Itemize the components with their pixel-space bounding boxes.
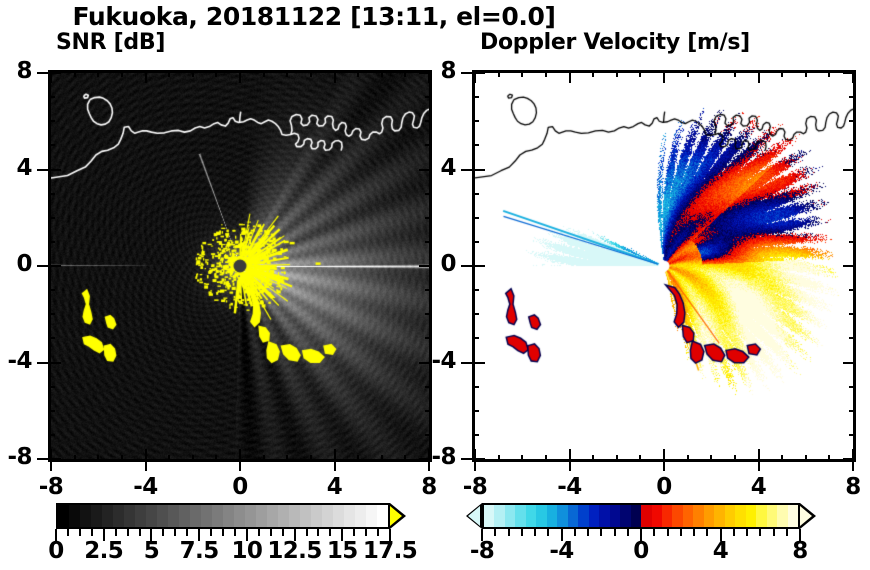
colorbar-swatch (256, 505, 267, 527)
colorbar-swatch (212, 505, 223, 527)
xtick-bottom (639, 455, 641, 462)
xtick-bottom (734, 455, 736, 462)
xtick-top (687, 70, 689, 77)
colorbar-tick (746, 529, 748, 536)
colorbar-swatch (80, 505, 91, 527)
ytick-outer (37, 169, 48, 171)
xtick-top (781, 70, 783, 77)
xtick-bottom (616, 455, 618, 462)
xtick-bottom (474, 449, 476, 462)
doppler-plot-area[interactable] (472, 70, 856, 462)
ytick-outer (461, 169, 472, 171)
xtick-top (710, 70, 712, 77)
ytick-right (425, 386, 432, 388)
colorbar-tick (600, 529, 602, 536)
colorbar-tick (317, 529, 319, 536)
snr-panel-title: SNR [dB] (48, 30, 432, 55)
colorbar-tick (234, 529, 236, 536)
ytick-outer (461, 265, 472, 267)
colorbar-swatch (69, 505, 80, 527)
y-axis-tick-label: 0 (416, 251, 456, 277)
y-axis-tick-label: -4 (0, 348, 32, 374)
colorbar-tick (574, 529, 576, 536)
xtick-top (592, 70, 594, 77)
x-axis-tick-label: 4 (305, 474, 365, 500)
ytick-left (472, 362, 485, 364)
ytick-outer (37, 265, 48, 267)
colorbar-swatch (505, 505, 515, 527)
xtick-bottom (381, 455, 383, 462)
x-axis-tick-label: 8 (823, 474, 870, 500)
radar-figure: Fukuoka, 20181122 [13:11, el=0.0] SNR [d… (0, 0, 870, 570)
ytick-left (48, 217, 55, 219)
x-axis-tick-label: -4 (116, 474, 176, 500)
colorbar-swatch (278, 505, 289, 527)
xtick-bottom (805, 455, 807, 462)
colorbar-tick-label: 17.5 (350, 538, 430, 564)
xtick-top (828, 70, 830, 77)
colorbar-tick (667, 529, 669, 536)
ytick-left (48, 72, 61, 74)
xtick-bottom (97, 455, 99, 462)
xtick-bottom (545, 455, 547, 462)
colorbar-swatch (725, 505, 735, 527)
xtick-bottom (239, 449, 241, 462)
colorbar-swatch (557, 505, 567, 527)
ytick-left (48, 289, 55, 291)
ytick-left (48, 337, 55, 339)
ytick-left (472, 313, 479, 315)
colorbar-tick (773, 529, 775, 536)
colorbar-tick (222, 529, 224, 536)
y-axis-tick-label: 8 (416, 58, 456, 84)
ytick-left (472, 458, 485, 460)
colorbar-tick (258, 529, 260, 536)
colorbar-tick-label: 4 (681, 538, 761, 564)
ytick-right (843, 169, 856, 171)
colorbar-swatch (484, 505, 494, 527)
ytick-left (472, 434, 479, 436)
xtick-top (381, 70, 383, 77)
xtick-bottom (74, 455, 76, 462)
y-axis-tick-label: 4 (416, 155, 456, 181)
colorbar-swatch (767, 505, 777, 527)
colorbar-tick (614, 529, 616, 536)
colorbar-swatch (245, 505, 256, 527)
colorbar-tick (365, 529, 367, 536)
colorbar-swatch (322, 505, 333, 527)
colorbar-swatch (735, 505, 745, 527)
doppler-colorbar-under-arrow-fill (468, 506, 480, 526)
ytick-left (472, 241, 479, 243)
colorbar-swatch (289, 505, 300, 527)
y-axis-tick-label: 8 (0, 58, 32, 84)
xtick-top (192, 70, 194, 77)
xtick-top (168, 70, 170, 77)
ytick-right (849, 144, 856, 146)
ytick-right (849, 434, 856, 436)
xtick-bottom (828, 455, 830, 462)
colorbar-swatch (267, 505, 278, 527)
colorbar-tick (329, 529, 331, 536)
colorbar-swatch (704, 505, 714, 527)
xtick-outer (852, 462, 854, 471)
colorbar-swatch (788, 505, 798, 527)
colorbar-tick (786, 529, 788, 536)
ytick-left (48, 96, 55, 98)
colorbar-swatch (547, 505, 557, 527)
colorbar-swatch (135, 505, 146, 527)
colorbar-swatch (113, 505, 124, 527)
ytick-left (48, 458, 61, 460)
snr-colorbar-over-arrow-fill (390, 506, 402, 526)
xtick-top (663, 70, 665, 83)
y-axis-tick-label: -8 (416, 444, 456, 470)
xtick-bottom (310, 455, 312, 462)
colorbar-tick-label: 8 (760, 538, 840, 564)
colorbar-tick (270, 529, 272, 536)
xtick-outer (50, 462, 52, 471)
ytick-right (849, 313, 856, 315)
colorbar-tick (162, 529, 164, 536)
colorbar-swatch (526, 505, 536, 527)
ytick-right (425, 96, 432, 98)
ytick-right (425, 241, 432, 243)
xtick-bottom (145, 449, 147, 462)
xtick-top (734, 70, 736, 77)
xtick-bottom (710, 455, 712, 462)
ytick-left (472, 289, 479, 291)
x-axis-tick-label: -8 (445, 474, 505, 500)
colorbar-swatch (124, 505, 135, 527)
y-axis-tick-label: -8 (0, 444, 32, 470)
colorbar-swatch (91, 505, 102, 527)
colorbar-swatch (777, 505, 787, 527)
xtick-top (498, 70, 500, 77)
colorbar-swatch (300, 505, 311, 527)
xtick-bottom (334, 449, 336, 462)
colorbar-swatch (333, 505, 344, 527)
colorbar-swatch (311, 505, 322, 527)
ytick-left (472, 217, 479, 219)
ytick-left (472, 120, 479, 122)
xtick-top (286, 70, 288, 77)
colorbar-tick (282, 529, 284, 536)
ytick-left (48, 410, 55, 412)
colorbar-tick (174, 529, 176, 536)
xtick-bottom (687, 455, 689, 462)
ytick-left (472, 265, 485, 267)
ytick-left (48, 120, 55, 122)
xtick-bottom (121, 455, 123, 462)
colorbar-swatch (599, 505, 609, 527)
ytick-right (425, 313, 432, 315)
xtick-top (145, 70, 147, 83)
colorbar-tick (377, 529, 379, 536)
colorbar-swatch (683, 505, 693, 527)
colorbar-tick (67, 529, 69, 536)
colorbar-swatch (756, 505, 766, 527)
colorbar-tick (139, 529, 141, 536)
ytick-outer (461, 362, 472, 364)
colorbar-swatch (146, 505, 157, 527)
colorbar-swatch (589, 505, 599, 527)
xtick-top (758, 70, 760, 83)
colorbar-swatch (355, 505, 366, 527)
colorbar-swatch (344, 505, 355, 527)
xtick-bottom (569, 449, 571, 462)
xtick-outer (663, 462, 665, 471)
colorbar-swatch (223, 505, 234, 527)
ytick-right (843, 362, 856, 364)
ytick-left (48, 169, 61, 171)
colorbar-swatch (714, 505, 724, 527)
xtick-bottom (192, 455, 194, 462)
colorbar-tick (680, 529, 682, 536)
doppler-radar-canvas (475, 73, 853, 459)
colorbar-swatch (620, 505, 630, 527)
ytick-right (849, 241, 856, 243)
xtick-bottom (592, 455, 594, 462)
ytick-outer (37, 362, 48, 364)
xtick-outer (758, 462, 760, 471)
colorbar-swatch (693, 505, 703, 527)
colorbar-swatch (494, 505, 504, 527)
x-axis-tick-label: 0 (210, 474, 270, 500)
ytick-left (48, 434, 55, 436)
colorbar-tick-label: -4 (522, 538, 602, 564)
colorbar-swatch (102, 505, 113, 527)
ytick-left (472, 337, 479, 339)
xtick-bottom (404, 455, 406, 462)
figure-title: Fukuoka, 20181122 [13:11, el=0.0] (0, 2, 628, 31)
colorbar-swatch (652, 505, 662, 527)
ytick-left (472, 386, 479, 388)
colorbar-swatch (536, 505, 546, 527)
colorbar-swatch (168, 505, 179, 527)
ytick-left (472, 72, 485, 74)
colorbar-tick (127, 529, 129, 536)
colorbar-swatch (631, 505, 641, 527)
snr-radar-canvas (51, 73, 429, 459)
colorbar-tick (733, 529, 735, 536)
colorbar-swatch (515, 505, 525, 527)
colorbar-tick (521, 529, 523, 536)
colorbar-tick (693, 529, 695, 536)
xtick-top (263, 70, 265, 77)
snr-colorbar-gradient (56, 503, 390, 529)
xtick-bottom (521, 455, 523, 462)
x-axis-tick-label: -8 (21, 474, 81, 500)
colorbar-swatch (641, 505, 651, 527)
xtick-bottom (852, 449, 854, 462)
colorbar-swatch (610, 505, 620, 527)
colorbar-swatch (366, 505, 377, 527)
colorbar-tick (186, 529, 188, 536)
xtick-top (545, 70, 547, 77)
xtick-bottom (286, 455, 288, 462)
xtick-bottom (663, 449, 665, 462)
xtick-top (639, 70, 641, 77)
xtick-top (521, 70, 523, 77)
colorbar-tick (508, 529, 510, 536)
colorbar-tick (115, 529, 117, 536)
colorbar-swatch (746, 505, 756, 527)
ytick-right (425, 410, 432, 412)
doppler-colorbar[interactable] (466, 503, 816, 529)
xtick-bottom (758, 449, 760, 462)
colorbar-tick (91, 529, 93, 536)
xtick-outer (334, 462, 336, 471)
xtick-top (805, 70, 807, 77)
ytick-right (849, 289, 856, 291)
ytick-right (425, 217, 432, 219)
colorbar-tick (494, 529, 496, 536)
colorbar-swatch (377, 505, 388, 527)
y-axis-tick-label: -4 (416, 348, 456, 374)
x-axis-tick-label: -4 (540, 474, 600, 500)
colorbar-tick-label: 0 (601, 538, 681, 564)
y-axis-tick-label: 4 (0, 155, 32, 181)
snr-plot-area[interactable] (48, 70, 432, 462)
xtick-bottom (168, 455, 170, 462)
colorbar-swatch (201, 505, 212, 527)
x-axis-tick-label: 0 (634, 474, 694, 500)
ytick-right (843, 265, 856, 267)
ytick-left (48, 241, 55, 243)
colorbar-tick (547, 529, 549, 536)
xtick-top (569, 70, 571, 83)
ytick-left (48, 144, 55, 146)
ytick-right (849, 217, 856, 219)
ytick-outer (37, 458, 48, 460)
ytick-left (472, 410, 479, 412)
x-axis-tick-label: 4 (729, 474, 789, 500)
colorbar-tick (353, 529, 355, 536)
xtick-bottom (498, 455, 500, 462)
colorbar-swatch (672, 505, 682, 527)
xtick-bottom (263, 455, 265, 462)
ytick-outer (461, 458, 472, 460)
ytick-right (849, 337, 856, 339)
xtick-outer (474, 462, 476, 471)
ytick-right (843, 458, 856, 460)
xtick-bottom (781, 455, 783, 462)
xtick-top (616, 70, 618, 77)
ytick-left (48, 313, 55, 315)
xtick-bottom (50, 449, 52, 462)
colorbar-swatch (58, 505, 69, 527)
xtick-top (357, 70, 359, 77)
ytick-left (472, 193, 479, 195)
xtick-outer (145, 462, 147, 471)
ytick-left (48, 265, 61, 267)
colorbar-tick (79, 529, 81, 536)
colorbar-tick (627, 529, 629, 536)
ytick-right (849, 120, 856, 122)
colorbar-tick-label: -8 (442, 538, 522, 564)
y-axis-tick-label: 0 (0, 251, 32, 277)
snr-colorbar[interactable] (56, 503, 406, 529)
xtick-top (215, 70, 217, 77)
ytick-left (48, 193, 55, 195)
colorbar-tick (706, 529, 708, 536)
xtick-top (310, 70, 312, 77)
xtick-outer (569, 462, 571, 471)
colorbar-swatch (157, 505, 168, 527)
ytick-left (472, 144, 479, 146)
ytick-left (48, 362, 61, 364)
xtick-top (97, 70, 99, 77)
xtick-top (121, 70, 123, 77)
colorbar-tick (759, 529, 761, 536)
xtick-top (239, 70, 241, 83)
ytick-outer (461, 72, 472, 74)
ytick-left (472, 169, 485, 171)
xtick-bottom (215, 455, 217, 462)
xtick-bottom (357, 455, 359, 462)
ytick-left (48, 386, 55, 388)
xtick-top (404, 70, 406, 77)
doppler-colorbar-over-arrow-fill (800, 506, 812, 526)
doppler-panel-title: Doppler Velocity [m/s] (472, 30, 856, 55)
colorbar-tick (210, 529, 212, 536)
colorbar-tick (653, 529, 655, 536)
ytick-right (425, 193, 432, 195)
colorbar-swatch (234, 505, 245, 527)
ytick-right (849, 193, 856, 195)
ytick-right (425, 434, 432, 436)
ytick-right (425, 120, 432, 122)
ytick-outer (37, 72, 48, 74)
ytick-right (849, 386, 856, 388)
xtick-top (74, 70, 76, 77)
colorbar-tick (534, 529, 536, 536)
colorbar-tick (306, 529, 308, 536)
colorbar-swatch (190, 505, 201, 527)
colorbar-swatch (568, 505, 578, 527)
ytick-right (425, 289, 432, 291)
ytick-left (472, 96, 479, 98)
ytick-right (849, 410, 856, 412)
ytick-right (425, 337, 432, 339)
colorbar-swatch (578, 505, 588, 527)
colorbar-swatch (662, 505, 672, 527)
ytick-right (425, 144, 432, 146)
ytick-right (849, 96, 856, 98)
colorbar-swatch (179, 505, 190, 527)
colorbar-tick (587, 529, 589, 536)
xtick-top (334, 70, 336, 83)
doppler-colorbar-gradient (482, 503, 800, 529)
ytick-right (843, 72, 856, 74)
xtick-outer (239, 462, 241, 471)
